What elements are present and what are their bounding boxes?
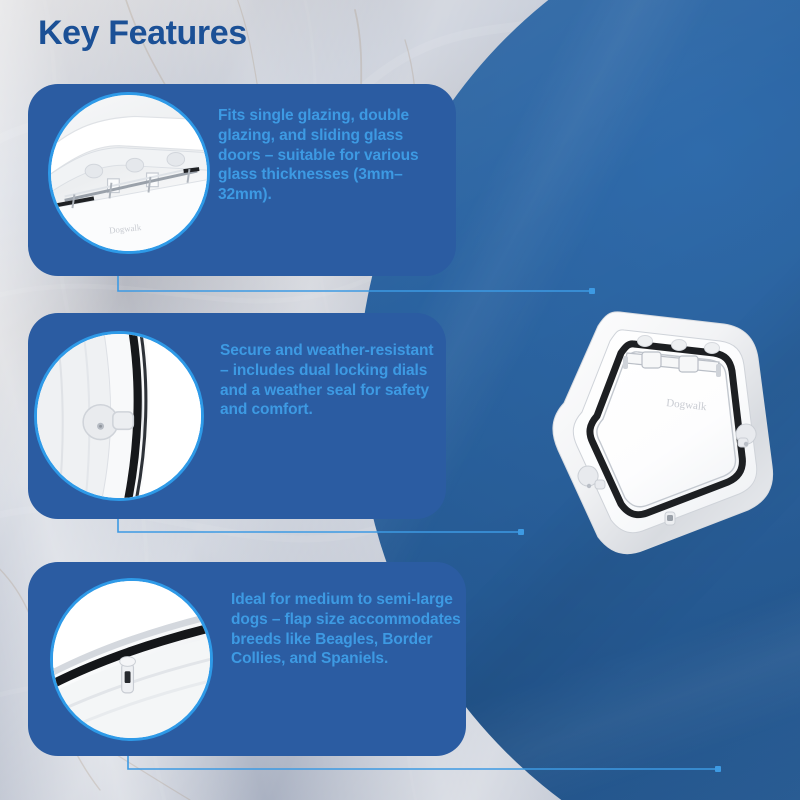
feature-text-2: Secure and weather-resistant – includes … xyxy=(220,341,442,420)
thumbnail-pet-door-flap-edge-closeup xyxy=(50,578,213,741)
hinge-closeup-illustration: Dogwalk xyxy=(51,95,207,251)
feature-card-glazing-compatibility: Dogwalk Fits single glazing, double glaz… xyxy=(28,84,456,276)
flap-edge-closeup-illustration xyxy=(53,581,210,738)
locking-dial-closeup-illustration xyxy=(37,334,201,498)
key-features-poster: Dogwalk xyxy=(0,0,800,800)
connector-endpoint-2 xyxy=(518,529,524,535)
connector-endpoint-3 xyxy=(715,766,721,772)
feature-card-security-weatherproofing: Secure and weather-resistant – includes … xyxy=(28,313,446,519)
thumbnail-pet-door-locking-dial-closeup xyxy=(34,331,204,501)
feature-card-dog-size-suitability: Ideal for medium to semi-large dogs – fl… xyxy=(28,562,466,756)
thumbnail-pet-door-hinge-closeup: Dogwalk xyxy=(48,92,210,254)
page-title: Key Features xyxy=(38,14,247,53)
flap-latch xyxy=(120,657,136,693)
feature-text-1: Fits single glazing, double glazing, and… xyxy=(218,106,448,205)
connector-endpoint-1 xyxy=(589,288,595,294)
feature-text-3: Ideal for medium to semi-large dogs – fl… xyxy=(231,590,461,669)
